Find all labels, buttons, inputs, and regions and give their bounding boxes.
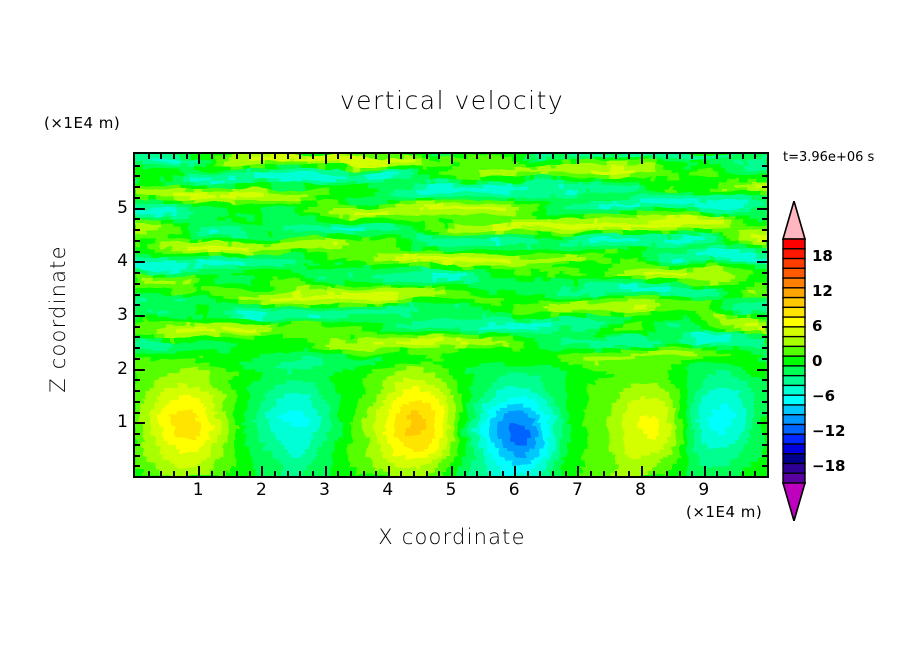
- tick-mark: [325, 154, 327, 164]
- tick-mark: [274, 154, 276, 159]
- tick-mark: [527, 471, 529, 476]
- colorbar-tick-label: −12: [812, 422, 845, 440]
- colorbar-band: [783, 337, 805, 347]
- tick-mark: [762, 304, 767, 306]
- tick-mark: [223, 471, 225, 476]
- tick-mark: [148, 471, 150, 476]
- tick-mark: [729, 154, 731, 159]
- tick-mark: [274, 471, 276, 476]
- colorbar-band: [783, 346, 805, 356]
- tick-mark: [223, 154, 225, 159]
- tick-mark: [653, 154, 655, 159]
- tick-mark: [762, 197, 767, 199]
- tick-mark: [489, 154, 491, 159]
- y-tick-label: 4: [104, 251, 128, 271]
- tick-mark: [691, 471, 693, 476]
- tick-mark: [135, 455, 140, 457]
- tick-mark: [489, 471, 491, 476]
- tick-mark: [135, 444, 140, 446]
- tick-mark: [742, 471, 744, 476]
- tick-mark: [363, 154, 365, 159]
- tick-mark: [135, 369, 145, 371]
- tick-mark: [603, 471, 605, 476]
- tick-mark: [413, 471, 415, 476]
- colorbar-band: [783, 366, 805, 376]
- contour-field: [135, 154, 767, 476]
- tick-mark: [762, 240, 767, 242]
- colorbar-band: [783, 239, 805, 249]
- tick-mark: [451, 466, 453, 476]
- y-axis-unit-label: (×1E4 m): [44, 114, 120, 132]
- tick-mark: [691, 154, 693, 159]
- tick-mark: [762, 294, 767, 296]
- tick-mark: [666, 471, 668, 476]
- tick-mark: [287, 154, 289, 159]
- colorbar-band: [783, 356, 805, 366]
- tick-mark: [299, 154, 301, 159]
- tick-mark: [400, 471, 402, 476]
- tick-mark: [135, 358, 140, 360]
- colorbar-band: [783, 463, 805, 473]
- x-axis-unit-label: (×1E4 m): [686, 503, 762, 521]
- y-axis-title: Z coordinate: [46, 209, 70, 429]
- colorbar-band: [783, 307, 805, 317]
- colorbar-tick-label: 6: [812, 317, 822, 335]
- tick-mark: [641, 154, 643, 164]
- tick-mark: [312, 471, 314, 476]
- tick-mark: [350, 154, 352, 159]
- tick-mark: [590, 154, 592, 159]
- tick-mark: [754, 154, 756, 159]
- colorbar-tick-label: 12: [812, 282, 833, 300]
- tick-mark: [135, 401, 140, 403]
- tick-mark: [762, 272, 767, 274]
- tick-mark: [762, 433, 767, 435]
- tick-mark: [438, 471, 440, 476]
- tick-mark: [704, 154, 706, 164]
- tick-mark: [135, 347, 140, 349]
- tick-mark: [762, 326, 767, 328]
- colorbar-band: [783, 376, 805, 386]
- tick-mark: [464, 471, 466, 476]
- tick-mark: [135, 186, 140, 188]
- y-tick-label: 1: [104, 412, 128, 432]
- tick-mark: [400, 154, 402, 159]
- tick-mark: [762, 390, 767, 392]
- x-tick-label: 5: [436, 480, 466, 500]
- tick-mark: [762, 444, 767, 446]
- colorbar-tick-labels: 181260−6−12−18: [812, 201, 872, 521]
- tick-mark: [514, 154, 516, 164]
- colorbar-band: [783, 454, 805, 464]
- tick-mark: [451, 154, 453, 164]
- tick-mark: [438, 154, 440, 159]
- tick-mark: [211, 154, 213, 159]
- y-tick-label: 5: [104, 198, 128, 218]
- colorbar-tick-label: −6: [812, 387, 835, 405]
- colorbar-band: [783, 405, 805, 415]
- tick-mark: [135, 229, 140, 231]
- tick-mark: [757, 422, 767, 424]
- tick-mark: [762, 455, 767, 457]
- tick-mark: [350, 471, 352, 476]
- colorbar-band: [783, 288, 805, 298]
- colorbar-band: [783, 424, 805, 434]
- tick-mark: [590, 471, 592, 476]
- tick-mark: [539, 154, 541, 159]
- tick-mark: [198, 154, 200, 164]
- tick-mark: [762, 412, 767, 414]
- tick-mark: [514, 466, 516, 476]
- tick-mark: [236, 154, 238, 159]
- tick-mark: [476, 154, 478, 159]
- tick-mark: [757, 315, 767, 317]
- tick-mark: [762, 336, 767, 338]
- tick-mark: [135, 208, 145, 210]
- colorbar-band: [783, 259, 805, 269]
- tick-mark: [762, 358, 767, 360]
- tick-mark: [135, 251, 140, 253]
- y-tick-label: 2: [104, 359, 128, 379]
- tick-mark: [628, 471, 630, 476]
- tick-mark: [552, 471, 554, 476]
- tick-mark: [135, 165, 140, 167]
- page-title: vertical velocity: [0, 86, 904, 115]
- tick-mark: [502, 471, 504, 476]
- tick-mark: [628, 154, 630, 159]
- tick-mark: [762, 401, 767, 403]
- tick-mark: [653, 471, 655, 476]
- tick-mark: [757, 369, 767, 371]
- x-tick-label: 1: [183, 480, 213, 500]
- tick-mark: [173, 154, 175, 159]
- tick-mark: [704, 466, 706, 476]
- tick-mark: [476, 471, 478, 476]
- tick-mark: [757, 261, 767, 263]
- tick-mark: [135, 283, 140, 285]
- tick-mark: [186, 471, 188, 476]
- tick-mark: [249, 471, 251, 476]
- tick-mark: [577, 466, 579, 476]
- tick-mark: [363, 471, 365, 476]
- tick-mark: [502, 154, 504, 159]
- tick-mark: [464, 154, 466, 159]
- tick-mark: [312, 154, 314, 159]
- colorbar-band: [783, 268, 805, 278]
- colorbar-band: [783, 317, 805, 327]
- tick-mark: [375, 471, 377, 476]
- colorbar-tick-label: 0: [812, 352, 822, 370]
- tick-mark: [762, 175, 767, 177]
- tick-mark: [135, 197, 140, 199]
- tick-mark: [762, 165, 767, 167]
- colorbar-band: [783, 395, 805, 405]
- tick-mark: [762, 347, 767, 349]
- tick-mark: [261, 466, 263, 476]
- colorbar-band: [783, 278, 805, 288]
- tick-mark: [249, 154, 251, 159]
- tick-mark: [666, 154, 668, 159]
- x-tick-label: 7: [562, 480, 592, 500]
- tick-mark: [552, 154, 554, 159]
- tick-mark: [135, 326, 140, 328]
- tick-mark: [762, 283, 767, 285]
- tick-mark: [762, 465, 767, 467]
- tick-mark: [603, 154, 605, 159]
- tick-mark: [729, 471, 731, 476]
- colorbar-band: [783, 444, 805, 454]
- tick-mark: [135, 294, 140, 296]
- tick-mark: [615, 154, 617, 159]
- tick-mark: [679, 154, 681, 159]
- x-tick-label: 2: [246, 480, 276, 500]
- tick-mark: [135, 336, 140, 338]
- x-tick-label: 4: [373, 480, 403, 500]
- tick-mark: [762, 229, 767, 231]
- tick-mark: [762, 218, 767, 220]
- colorbar-tick-label: −18: [812, 457, 845, 475]
- x-tick-label: 8: [626, 480, 656, 500]
- colorbar-band: [783, 298, 805, 308]
- tick-mark: [135, 465, 140, 467]
- tick-mark: [135, 422, 145, 424]
- tick-mark: [198, 466, 200, 476]
- tick-mark: [261, 154, 263, 164]
- tick-mark: [527, 154, 529, 159]
- x-axis-title: X coordinate: [0, 525, 904, 549]
- tick-mark: [577, 154, 579, 164]
- tick-mark: [337, 471, 339, 476]
- tick-mark: [173, 471, 175, 476]
- colorbar-band: [783, 473, 805, 483]
- tick-mark: [716, 154, 718, 159]
- colorbar-tick-label: 18: [812, 247, 833, 265]
- tick-mark: [762, 379, 767, 381]
- colorbar-band: [783, 385, 805, 395]
- tick-mark: [211, 471, 213, 476]
- colorbar-band: [783, 249, 805, 259]
- tick-mark: [135, 304, 140, 306]
- colorbar-over-cap: [783, 201, 805, 239]
- x-tick-label: 3: [310, 480, 340, 500]
- tick-mark: [135, 390, 140, 392]
- x-tick-label: 6: [499, 480, 529, 500]
- tick-mark: [641, 466, 643, 476]
- tick-mark: [337, 154, 339, 159]
- tick-mark: [565, 471, 567, 476]
- tick-mark: [388, 154, 390, 164]
- colorbar-band: [783, 434, 805, 444]
- tick-mark: [135, 433, 140, 435]
- tick-mark: [299, 471, 301, 476]
- tick-mark: [426, 154, 428, 159]
- tick-mark: [236, 471, 238, 476]
- tick-mark: [757, 208, 767, 210]
- tick-mark: [388, 466, 390, 476]
- y-tick-label: 3: [104, 305, 128, 325]
- tick-mark: [135, 240, 140, 242]
- tick-mark: [565, 154, 567, 159]
- colorbar: [781, 201, 807, 521]
- tick-mark: [135, 261, 145, 263]
- tick-mark: [135, 272, 140, 274]
- tick-mark: [160, 154, 162, 159]
- tick-mark: [762, 186, 767, 188]
- tick-mark: [539, 471, 541, 476]
- tick-mark: [186, 154, 188, 159]
- tick-mark: [754, 471, 756, 476]
- tick-mark: [716, 471, 718, 476]
- tick-mark: [135, 315, 145, 317]
- x-tick-label: 9: [689, 480, 719, 500]
- tick-mark: [615, 471, 617, 476]
- tick-mark: [135, 379, 140, 381]
- tick-mark: [287, 471, 289, 476]
- tick-mark: [135, 218, 140, 220]
- tick-mark: [375, 154, 377, 159]
- figure-canvas: vertical velocity (×1E4 m) (×1E4 m) t=3.…: [0, 0, 904, 654]
- tick-mark: [148, 154, 150, 159]
- tick-mark: [325, 466, 327, 476]
- contour-cells: [135, 154, 767, 476]
- contour-plot-area: [133, 152, 769, 478]
- tick-mark: [762, 251, 767, 253]
- colorbar-band: [783, 415, 805, 425]
- colorbar-under-cap: [783, 483, 805, 521]
- tick-mark: [742, 154, 744, 159]
- tick-mark: [679, 471, 681, 476]
- colorbar-band: [783, 327, 805, 337]
- tick-mark: [413, 154, 415, 159]
- tick-mark: [135, 175, 140, 177]
- tick-mark: [135, 412, 140, 414]
- tick-mark: [426, 471, 428, 476]
- time-annotation: t=3.96e+06 s: [783, 150, 874, 165]
- tick-mark: [160, 471, 162, 476]
